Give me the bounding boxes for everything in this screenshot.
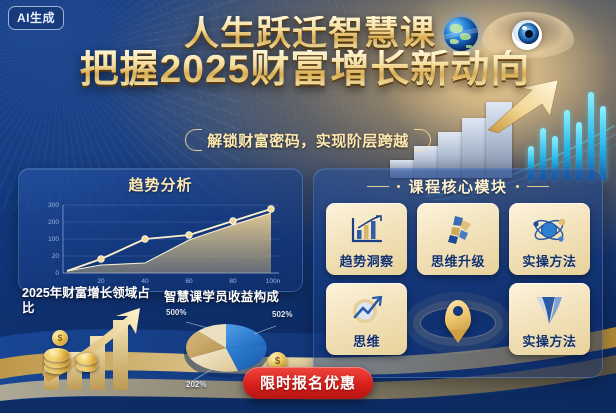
puzzle-icon xyxy=(417,210,498,250)
gold-coin-icon: $ xyxy=(52,330,68,346)
module-card-mindset-upgrade[interactable]: 思维升级 xyxy=(417,203,498,275)
title-dot-left xyxy=(397,185,400,188)
svg-text:100: 100 xyxy=(48,236,59,243)
modules-grid: 趋势洞察 思维升级 xyxy=(326,203,590,355)
headline-line2-row: 把握2025财富增长新动向 xyxy=(0,52,616,90)
svg-text:20: 20 xyxy=(97,278,105,285)
svg-text:40: 40 xyxy=(141,278,149,285)
svg-text:20: 20 xyxy=(52,253,60,260)
module-label: 思维升级 xyxy=(431,251,485,270)
pie-label-3: 202% xyxy=(186,380,206,389)
svg-text:60: 60 xyxy=(185,278,193,285)
globe-icon xyxy=(444,17,478,51)
module-card-practical-method-2[interactable]: 实操方法 xyxy=(509,283,590,355)
trend-analysis-card: 趋势分析 xyxy=(18,168,303,292)
location-pin-icon xyxy=(445,300,471,334)
atom-icon xyxy=(509,210,590,250)
module-label: 趋势洞察 xyxy=(340,251,394,270)
headline-line1: 人生跃迁智慧课 xyxy=(182,16,438,52)
subtitle: 解锁财富密码，实现阶层跨越 xyxy=(185,128,431,154)
gold-coin-stack-icon xyxy=(44,348,70,362)
modules-title: 课程核心模块 xyxy=(408,176,507,197)
bar-figure-label: 2025年财富增长领域占比 xyxy=(22,286,152,316)
svg-text:100n: 100n xyxy=(266,278,281,285)
headline-line1-row: 人生跃迁智慧课 xyxy=(44,16,616,52)
title-dot-right xyxy=(516,185,519,188)
title-dash-right xyxy=(527,186,549,188)
svg-text:200: 200 xyxy=(48,219,59,226)
module-card-thinking[interactable]: 思维 xyxy=(326,283,407,355)
title-dash-left xyxy=(367,186,389,188)
bar-chart-icon xyxy=(326,210,407,250)
svg-text:80: 80 xyxy=(229,278,237,285)
module-card-trend-insight[interactable]: 趋势洞察 xyxy=(326,203,407,275)
trend-card-title: 趋势分析 xyxy=(19,174,302,195)
poster-root: AI生成 xyxy=(0,0,616,413)
module-card-location[interactable] xyxy=(417,283,498,355)
pie-figure-label: 智慧课学员收益构成 xyxy=(164,286,279,305)
module-card-practical-method[interactable]: 实操方法 xyxy=(509,203,590,275)
pie-label-1: 500% xyxy=(166,308,186,317)
headline-line2: 把握2025财富增长新动向 xyxy=(78,50,533,90)
headline-block: 人生跃迁智慧课 把握2025财富增长新动向 xyxy=(0,16,616,89)
module-label: 思维 xyxy=(353,331,380,350)
trend-line-chart: 300 200 100 20 0 20 40 60 80 100n xyxy=(27,195,295,287)
ribbon-icon xyxy=(509,290,590,330)
subtitle-wrap: 解锁财富密码，实现阶层跨越 xyxy=(0,128,616,154)
module-label: 实操方法 xyxy=(522,251,576,270)
pin-hole xyxy=(453,306,463,316)
ai-generated-badge: AI生成 xyxy=(8,6,64,30)
cta-badge[interactable]: 限时报名优惠 xyxy=(243,367,373,399)
gold-coin-stack-icon xyxy=(76,353,98,365)
svg-text:300: 300 xyxy=(48,202,59,209)
core-modules-card: 课程核心模块 趋势洞察 xyxy=(313,168,603,378)
pie-label-2: 502% xyxy=(272,310,292,319)
module-label: 实操方法 xyxy=(522,331,576,350)
svg-text:0: 0 xyxy=(55,270,59,277)
modules-title-row: 课程核心模块 xyxy=(314,176,602,197)
location-pin-wrap xyxy=(445,283,471,350)
growth-arrow-icon xyxy=(326,290,407,330)
